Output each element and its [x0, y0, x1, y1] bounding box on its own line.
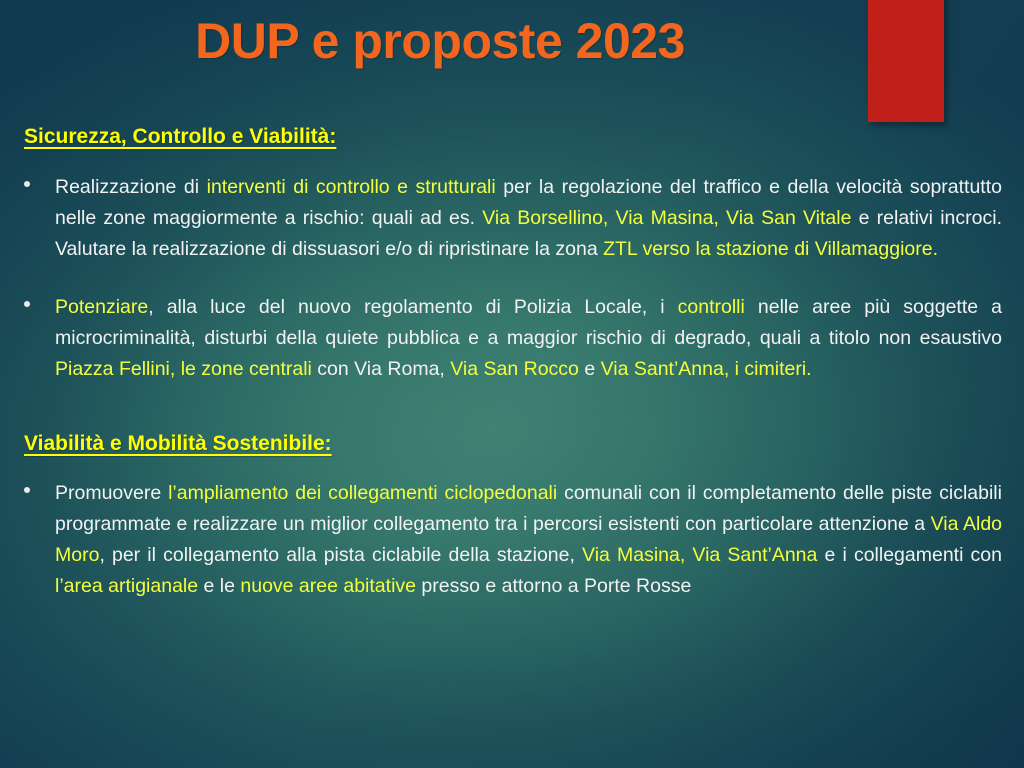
highlighted-text-run: Via Masina, Via Sant’Anna: [582, 544, 817, 566]
highlighted-text-run: Potenziare: [55, 296, 148, 318]
bullet-text: Potenziare, alla luce del nuovo regolame…: [55, 292, 1002, 385]
section-heading-sicurezza: Sicurezza, Controllo e Viabilità:: [24, 124, 1002, 150]
highlighted-text-run: nuove aree abitative: [240, 575, 416, 597]
text-run: e le: [198, 575, 240, 597]
text-run: , alla luce del nuovo regolamento di Pol…: [148, 296, 677, 318]
text-run: con Via Roma,: [312, 358, 450, 380]
text-run: e: [579, 358, 601, 380]
bullet-dot-icon: [24, 181, 30, 187]
bullet-text: Realizzazione di interventi di controllo…: [55, 172, 1002, 265]
slide-body: Sicurezza, Controllo e Viabilità: Realiz…: [22, 124, 1002, 602]
highlighted-text-run: l’area artigianale: [55, 575, 198, 597]
highlighted-text-run: controlli: [678, 296, 745, 318]
list-item: Potenziare, alla luce del nuovo regolame…: [22, 292, 1002, 385]
text-run: e i collegamenti con: [817, 544, 1002, 566]
page-title: DUP e proposte 2023: [0, 14, 880, 69]
highlighted-text-run: Via Borsellino, Via Masina, Via San Vita…: [482, 207, 851, 229]
bullet-dot-icon: [24, 301, 30, 307]
section-heading-viabilita: Viabilità e Mobilità Sostenibile:: [24, 431, 1002, 457]
list-item: Promuovere l’ampliamento dei collegament…: [22, 478, 1002, 602]
presentation-slide: DUP e proposte 2023 Sicurezza, Controllo…: [0, 0, 1024, 768]
bullet-dot-icon: [24, 487, 30, 493]
highlighted-text-run: l’ampliamento dei collegamenti ciclopedo…: [168, 482, 557, 504]
bullet-text: Promuovere l’ampliamento dei collegament…: [55, 478, 1002, 602]
highlighted-text-run: Via Sant’Anna, i cimiteri.: [601, 358, 812, 380]
text-run: Promuovere: [55, 482, 168, 504]
text-run: Realizzazione di: [55, 176, 207, 198]
list-item: Realizzazione di interventi di controllo…: [22, 172, 1002, 265]
slide-content: DUP e proposte 2023 Sicurezza, Controllo…: [0, 0, 1024, 768]
highlighted-text-run: ZTL verso la stazione di Villamaggiore.: [603, 238, 938, 260]
text-run: , per il collegamento alla pista ciclabi…: [99, 544, 582, 566]
highlighted-text-run: Via San Rocco: [450, 358, 579, 380]
highlighted-text-run: Piazza Fellini, le zone centrali: [55, 358, 312, 380]
text-run: presso e attorno a Porte Rosse: [416, 575, 691, 597]
highlighted-text-run: interventi di controllo e strutturali: [207, 176, 496, 198]
